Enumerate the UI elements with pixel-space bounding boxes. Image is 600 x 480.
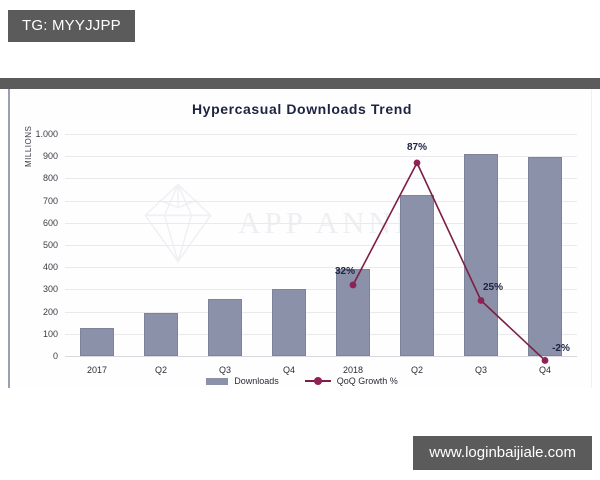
x-axis-tick-label: Q3 <box>475 365 487 375</box>
legend-item-downloads[interactable]: Downloads <box>206 376 279 386</box>
gridline <box>65 356 577 357</box>
legend-bar-swatch-icon <box>206 378 228 385</box>
line-point-label: 87% <box>407 142 427 153</box>
x-axis-tick-label: Q2 <box>411 365 423 375</box>
y-axis-tick-label: 1.000 <box>35 129 58 139</box>
y-axis-tick-label: 900 <box>43 151 58 161</box>
y-axis-tick-label: 400 <box>43 262 58 272</box>
panel-top-bar <box>0 78 600 89</box>
y-axis-tick-label: 500 <box>43 240 58 250</box>
y-axis-label: MILLIONS <box>24 126 33 167</box>
x-axis-tick-label: Q4 <box>283 365 295 375</box>
y-axis-tick-label: 800 <box>43 173 58 183</box>
plot-area: 1.00090080070060050040030020010002017Q2Q… <box>65 134 577 356</box>
legend-line-swatch-icon <box>305 377 331 385</box>
y-axis-tick-label: 300 <box>43 284 58 294</box>
legend-label-qoq-growth: QoQ Growth % <box>337 376 398 386</box>
y-axis-tick-label: 0 <box>53 351 58 361</box>
line-point-label: -2% <box>552 343 570 354</box>
line-point-marker[interactable] <box>414 159 421 166</box>
x-axis-tick-label: Q3 <box>219 365 231 375</box>
screenshot-root: TG: MYYJJPP Hypercasual Downloads Trend … <box>0 0 600 480</box>
legend-label-downloads: Downloads <box>234 376 279 386</box>
x-axis-tick-label: 2018 <box>343 365 363 375</box>
y-axis-tick-label: 600 <box>43 218 58 228</box>
chart-panel-body: Hypercasual Downloads Trend MILLIONS APP… <box>8 89 592 388</box>
chart-panel: Hypercasual Downloads Trend MILLIONS APP… <box>0 78 600 388</box>
qoq-growth-line <box>65 134 577 356</box>
chart-legend: Downloads QoQ Growth % <box>10 376 594 386</box>
tg-tag-watermark: TG: MYYJJPP <box>8 10 135 42</box>
site-watermark: www.loginbaijiale.com <box>413 436 592 470</box>
line-point-marker[interactable] <box>350 282 357 289</box>
y-axis-tick-label: 100 <box>43 329 58 339</box>
line-point-marker[interactable] <box>478 297 485 304</box>
line-point-label: 32% <box>335 266 355 277</box>
line-point-label: 25% <box>483 282 503 293</box>
y-axis-tick-label: 200 <box>43 307 58 317</box>
line-point-marker[interactable] <box>542 357 549 364</box>
x-axis-tick-label: 2017 <box>87 365 107 375</box>
x-axis-tick-label: Q2 <box>155 365 167 375</box>
chart-title: Hypercasual Downloads Trend <box>10 101 594 117</box>
y-axis-tick-label: 700 <box>43 196 58 206</box>
legend-item-qoq-growth[interactable]: QoQ Growth % <box>305 376 398 386</box>
x-axis-tick-label: Q4 <box>539 365 551 375</box>
